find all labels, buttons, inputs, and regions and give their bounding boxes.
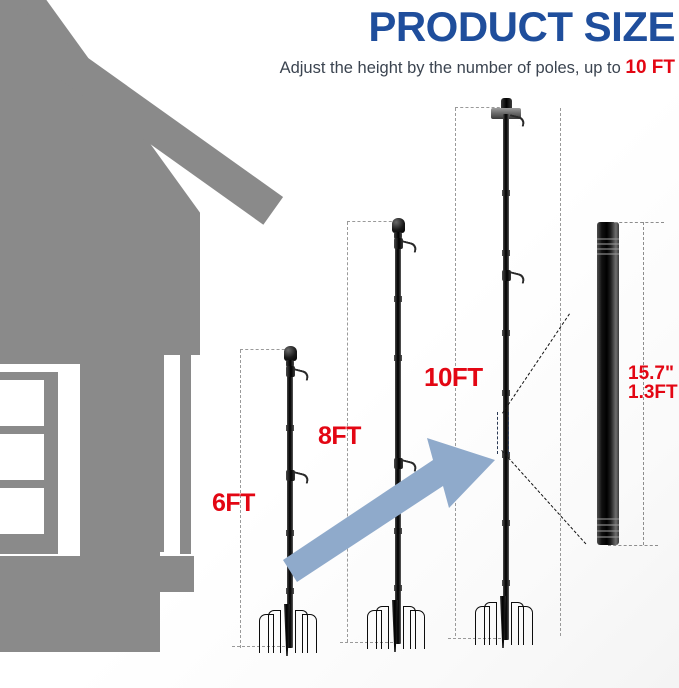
pole-thread-ring [597,536,619,538]
stake-tine [376,606,389,649]
pole-joint [502,250,510,256]
pole-cap [392,218,405,233]
pole-joint [502,580,510,586]
callout-source-marker [508,412,509,454]
pole-thread-ring [597,253,619,255]
segment-dimension-tick [608,545,658,546]
pole-thread-ring [597,524,619,526]
callout-leader-line-bottom [501,450,586,544]
pole-hook [400,240,418,253]
pole-joint [394,296,402,302]
callout-source-marker [497,412,498,454]
subtitle-text: Adjust the height by the number of poles… [280,59,626,77]
measure-tick-line [240,349,290,350]
pole-joint [502,390,510,396]
stake-center-spike [500,596,506,648]
segment-dimension-tick [614,222,664,223]
window-pane [0,434,44,480]
upward-trend-arrow [283,432,495,582]
ground-stake-fork [471,596,535,651]
ground-stake-fork [255,604,319,659]
page-title: PRODUCT SIZE [300,4,675,50]
stake-tine [302,614,317,653]
stake-center-spike [284,604,290,656]
stake-tine [268,610,281,653]
pole-thread-ring [597,518,619,520]
stake-tine [484,602,497,645]
pole-hook [508,271,526,284]
pole-thread-ring [597,248,619,250]
stake-tine [518,606,533,645]
pole-joint [502,330,510,336]
pole-hook [292,368,310,381]
measure-guide-line [560,108,561,636]
window-pane [0,380,44,426]
pole-cap [284,346,297,361]
pole-joint [286,588,294,594]
measure-tick-line [347,221,397,222]
house-base-band [0,556,194,592]
pole-segment-detail [597,222,619,545]
pole-joint [394,355,402,361]
segment-dimension-inches: 15.7" [628,364,678,383]
pole-joint [502,520,510,526]
pole-joint [502,190,510,196]
segment-dimension-feet: 1.3FT [628,383,678,402]
stake-tine [410,610,425,649]
stake-center-spike [392,600,398,652]
segment-dimension-label: 15.7" 1.3FT [628,364,678,402]
label-6ft: 6FT [212,489,255,518]
product-size-infographic: PRODUCT SIZE Adjust the height by the nu… [0,0,679,688]
pole-joint [394,585,402,591]
ground-stake-fork [363,600,427,655]
pole-hook [508,114,526,127]
subtitle-highlight: 10 FT [625,57,675,78]
pole-thread-ring [597,530,619,532]
pole-joint [286,425,294,431]
window-pane [0,488,44,534]
page-subtitle: Adjust the height by the number of poles… [185,57,675,79]
pole-thread-ring [597,243,619,245]
pole-thread-ring [597,238,619,240]
porch-column [134,340,164,552]
label-10ft: 10FT [424,362,483,393]
column-side-trim [180,348,191,554]
